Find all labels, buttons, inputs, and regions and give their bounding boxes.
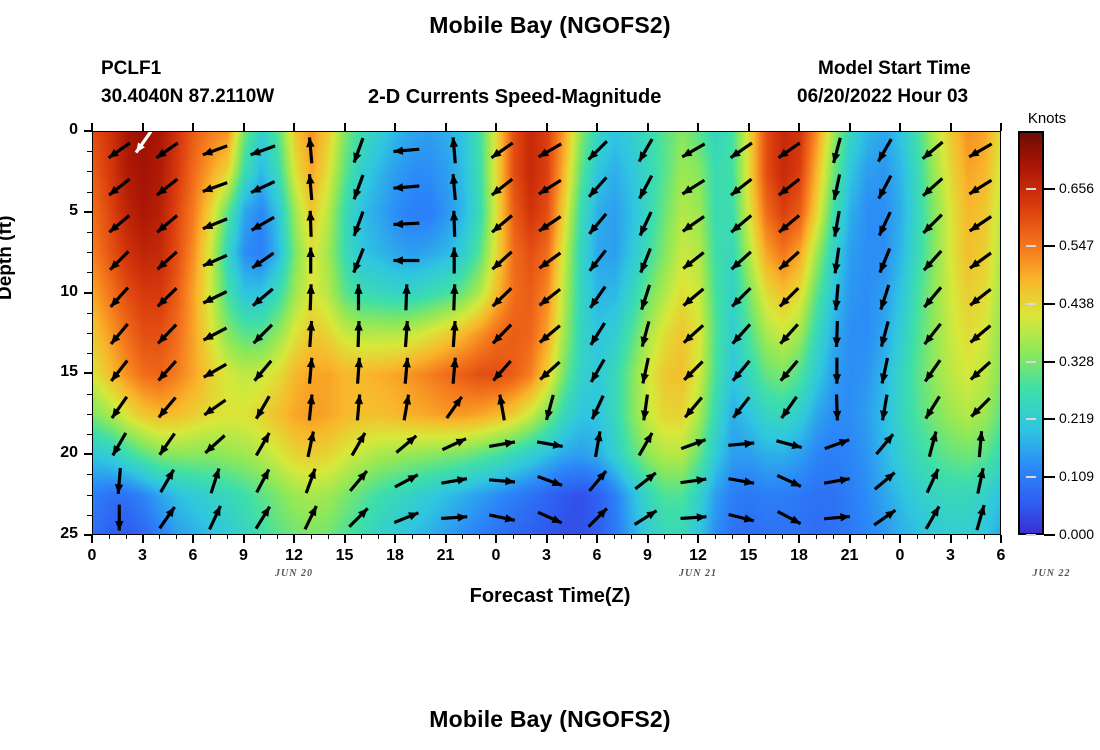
colorbar-tick (1044, 188, 1055, 190)
x-axis-tick-top (899, 123, 901, 131)
x-axis-tick (798, 535, 800, 543)
heatmap-plot-area[interactable] (92, 131, 1001, 535)
x-axis-tick-label: 12 (676, 547, 720, 565)
x-axis-tick (697, 535, 699, 543)
x-axis-tick (748, 535, 750, 543)
x-axis-title: Forecast Time(Z) (0, 585, 1100, 608)
chart-page: Mobile Bay (NGOFS2) PCLF1 30.4040N 87.21… (0, 0, 1100, 750)
x-axis-tick-label: 9 (222, 547, 266, 565)
x-axis-minor-tick (328, 535, 329, 539)
speed-magnitude-heatmap (93, 132, 1001, 535)
colorbar-inner-tick (1026, 188, 1036, 190)
colorbar-tick-label: 0.438 (1059, 295, 1094, 311)
x-axis-minor-tick (715, 535, 716, 539)
x-axis-tick-label: 0 (878, 547, 922, 565)
x-axis-minor-tick (833, 535, 834, 539)
x-axis-tick-label: 6 (979, 547, 1023, 565)
colorbar-inner-tick (1026, 361, 1036, 363)
x-axis-tick-label: 3 (525, 547, 569, 565)
y-axis-minor-tick (87, 495, 92, 496)
x-axis-minor-tick (866, 535, 867, 539)
colorbar-tick (1044, 476, 1055, 478)
x-axis-minor-tick (732, 535, 733, 539)
x-axis-tick-top (546, 123, 548, 131)
x-axis-minor-tick (883, 535, 884, 539)
x-axis-tick-label: 0 (70, 547, 114, 565)
x-axis-tick-top (445, 123, 447, 131)
bottom-page-title: Mobile Bay (NGOFS2) (0, 706, 1100, 733)
x-axis-tick-label: 21 (424, 547, 468, 565)
y-axis-minor-tick (87, 252, 92, 253)
x-axis-tick-top (849, 123, 851, 131)
x-axis-tick-top (950, 123, 952, 131)
colorbar-tick-label: 0.656 (1059, 180, 1094, 196)
x-axis-tick-top (293, 123, 295, 131)
x-axis-tick-top (798, 123, 800, 131)
y-axis-minor-tick (87, 313, 92, 314)
x-axis-minor-tick (462, 535, 463, 539)
x-axis-minor-tick (109, 535, 110, 539)
x-axis-tick (394, 535, 396, 543)
x-axis-tick (596, 535, 598, 543)
y-axis-minor-tick (87, 171, 92, 172)
x-axis-tick (1000, 535, 1002, 543)
y-axis-tick-label: 5 (36, 202, 78, 220)
x-axis-minor-tick (159, 535, 160, 539)
x-axis-tick (849, 535, 851, 543)
colorbar-tick-label: 0.547 (1059, 237, 1094, 253)
model-start-time-value: 06/20/2022 Hour 03 (797, 86, 968, 108)
y-axis-tick (84, 130, 92, 132)
x-axis-tick-top (394, 123, 396, 131)
x-axis-minor-tick (479, 535, 480, 539)
y-axis-tick (84, 292, 92, 294)
colorbar-tick-label: 0.109 (1059, 468, 1094, 484)
x-axis-tick-top (647, 123, 649, 131)
page-title: Mobile Bay (NGOFS2) (0, 12, 1100, 39)
x-axis-minor-tick (765, 535, 766, 539)
colorbar[interactable] (1018, 131, 1044, 535)
x-axis-minor-tick (412, 535, 413, 539)
x-axis-minor-tick (126, 535, 127, 539)
colorbar-inner-tick (1026, 303, 1036, 305)
x-axis-tick (546, 535, 548, 543)
x-axis-tick (142, 535, 144, 543)
x-axis-minor-tick (378, 535, 379, 539)
x-axis-tick-label: 6 (575, 547, 619, 565)
x-axis-tick (950, 535, 952, 543)
y-axis-minor-tick (87, 474, 92, 475)
x-axis-minor-tick (782, 535, 783, 539)
x-axis-tick-top (192, 123, 194, 131)
x-axis-tick-label: 3 (121, 547, 165, 565)
colorbar-tick-label: 0.328 (1059, 353, 1094, 369)
colorbar-tick-label: 0.000 (1059, 526, 1094, 542)
x-axis-day-label: JUN 20 (249, 568, 339, 579)
x-axis-tick-label: 18 (373, 547, 417, 565)
y-axis-tick-label: 20 (36, 444, 78, 462)
chart-subtitle: 2-D Currents Speed-Magnitude (368, 86, 661, 109)
x-axis-minor-tick (917, 535, 918, 539)
x-axis-tick (899, 535, 901, 543)
colorbar-tick (1044, 418, 1055, 420)
y-axis-title: Depth (ft) (0, 216, 17, 300)
x-axis-minor-tick (227, 535, 228, 539)
x-axis-tick (243, 535, 245, 543)
y-axis-tick (84, 211, 92, 213)
y-axis-minor-tick (87, 414, 92, 415)
x-axis-tick-label: 12 (272, 547, 316, 565)
x-axis-minor-tick (429, 535, 430, 539)
x-axis-minor-tick (277, 535, 278, 539)
y-axis-minor-tick (87, 192, 92, 193)
x-axis-minor-tick (816, 535, 817, 539)
colorbar-inner-tick (1026, 534, 1036, 536)
y-axis-minor-tick (87, 151, 92, 152)
x-axis-tick-label: 9 (626, 547, 670, 565)
x-axis-tick-top (344, 123, 346, 131)
y-axis-tick (84, 372, 92, 374)
station-coordinates-label: 30.4040N 87.2110W (101, 86, 274, 108)
y-axis-minor-tick (87, 272, 92, 273)
colorbar-title: Knots (1012, 110, 1082, 127)
x-axis-tick-label: 15 (727, 547, 771, 565)
x-axis-minor-tick (681, 535, 682, 539)
model-start-time-label: Model Start Time (818, 58, 971, 80)
colorbar-inner-tick (1026, 476, 1036, 478)
x-axis-tick-top (748, 123, 750, 131)
x-axis-minor-tick (967, 535, 968, 539)
station-id-label: PCLF1 (101, 58, 161, 80)
x-axis-minor-tick (631, 535, 632, 539)
x-axis-tick-top (243, 123, 245, 131)
y-axis-tick (84, 453, 92, 455)
colorbar-inner-tick (1026, 418, 1036, 420)
x-axis-tick-label: 15 (323, 547, 367, 565)
x-axis-tick-top (1000, 123, 1002, 131)
x-axis-tick (91, 535, 93, 543)
x-axis-tick-top (142, 123, 144, 131)
colorbar-tick-label: 0.219 (1059, 410, 1094, 426)
y-axis-minor-tick (87, 394, 92, 395)
colorbar-inner-tick (1026, 245, 1036, 247)
x-axis-minor-tick (260, 535, 261, 539)
x-axis-tick (192, 535, 194, 543)
x-axis-tick (344, 535, 346, 543)
x-axis-minor-tick (530, 535, 531, 539)
y-axis-tick-label: 10 (36, 283, 78, 301)
x-axis-tick-label: 0 (474, 547, 518, 565)
x-axis-tick (293, 535, 295, 543)
y-axis-minor-tick (87, 333, 92, 334)
colorbar-gradient (1018, 131, 1044, 535)
x-axis-tick (647, 535, 649, 543)
x-axis-minor-tick (984, 535, 985, 539)
x-axis-tick (445, 535, 447, 543)
x-axis-tick-label: 3 (929, 547, 973, 565)
x-axis-minor-tick (311, 535, 312, 539)
x-axis-tick-top (596, 123, 598, 131)
x-axis-tick (495, 535, 497, 543)
x-axis-day-label: JUN 21 (653, 568, 743, 579)
y-axis-minor-tick (87, 353, 92, 354)
x-axis-day-label: JUN 22 (1007, 568, 1097, 579)
x-axis-minor-tick (563, 535, 564, 539)
y-axis-tick-label: 15 (36, 363, 78, 381)
x-axis-minor-tick (934, 535, 935, 539)
x-axis-minor-tick (664, 535, 665, 539)
x-axis-minor-tick (580, 535, 581, 539)
x-axis-minor-tick (614, 535, 615, 539)
x-axis-minor-tick (210, 535, 211, 539)
colorbar-tick (1044, 303, 1055, 305)
x-axis-tick-top (495, 123, 497, 131)
x-axis-minor-tick (361, 535, 362, 539)
x-axis-tick-top (697, 123, 699, 131)
x-axis-minor-tick (176, 535, 177, 539)
x-axis-tick-label: 21 (828, 547, 872, 565)
colorbar-tick (1044, 534, 1055, 536)
colorbar-tick (1044, 361, 1055, 363)
y-axis-tick (84, 534, 92, 536)
y-axis-minor-tick (87, 232, 92, 233)
colorbar-tick (1044, 245, 1055, 247)
y-axis-tick-label: 0 (36, 121, 78, 139)
y-axis-minor-tick (87, 434, 92, 435)
x-axis-minor-tick (513, 535, 514, 539)
x-axis-tick-label: 6 (171, 547, 215, 565)
x-axis-tick-label: 18 (777, 547, 821, 565)
y-axis-minor-tick (87, 515, 92, 516)
y-axis-tick-label: 25 (36, 525, 78, 543)
